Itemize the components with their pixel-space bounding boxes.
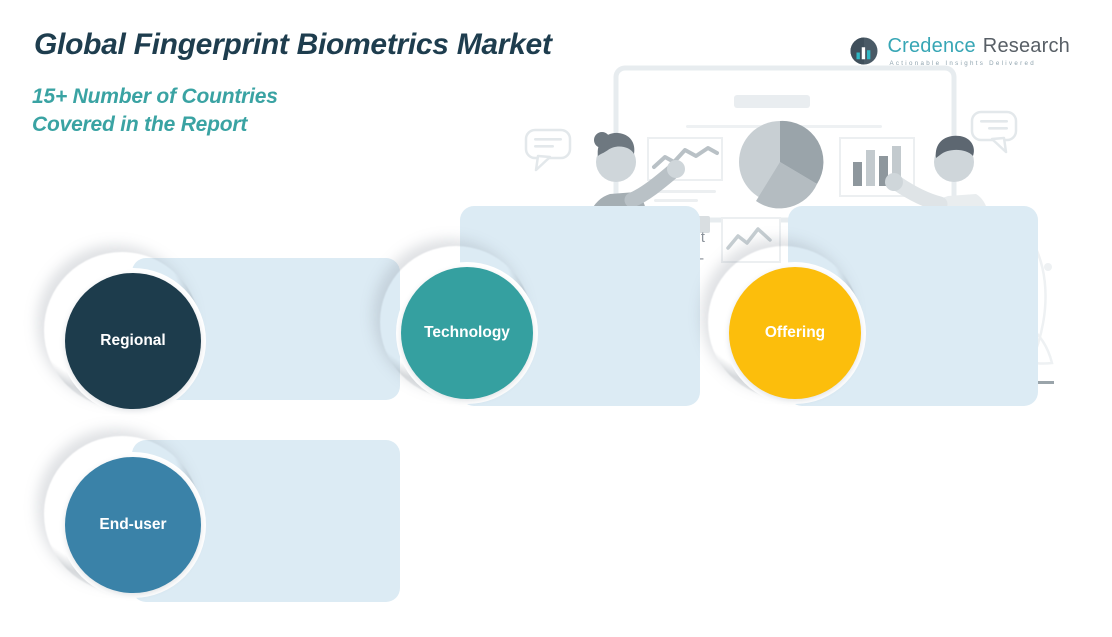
segment-circle-regional[interactable]: Regional [65,273,201,409]
segment-circle-technology[interactable]: Technology [401,267,533,399]
segment-block-offering[interactable]: Hardware Software Services Offering [700,196,1040,418]
logo-tagline: Actionable Insights Delivered [889,60,1070,67]
page-subtitle: 15+ Number of Countries Covered in the R… [32,83,278,138]
segment-circle-enduser[interactable]: End-user [65,457,201,593]
page-subtitle-line2: Covered in the Report [32,111,278,139]
page-subtitle-line1: 15+ Number of Countries [32,83,278,111]
bar-chart-circle-icon [849,36,879,66]
logo-brand: Credence Research [887,35,1070,58]
page-title: Global Fingerprint Biometrics Market [34,28,552,62]
segment-circle-offering[interactable]: Offering [729,267,861,399]
credence-research-logo: Credence Research Actionable Insights De… [849,30,1070,72]
segment-circle-label: Offering [765,324,825,342]
logo-brand-first: Credence [887,35,975,58]
logo-brand-second: Research [983,35,1070,58]
segment-circle-label: Regional [100,332,165,350]
segment-block-technology[interactable]: Non-Automated Fingerprint Identification… [372,196,712,418]
segment-block-enduser[interactable]: Government & Defense Consumer Electronic… [32,424,402,614]
logo-text: Credence Research Actionable Insights De… [887,35,1070,67]
segment-circle-label: End-user [99,516,166,534]
segment-block-regional[interactable]: North America Europe Asia Pacific Latin … [32,240,402,420]
header: Global Fingerprint Biometrics Market 15+… [0,0,1112,160]
segment-circle-label: Technology [424,324,510,342]
